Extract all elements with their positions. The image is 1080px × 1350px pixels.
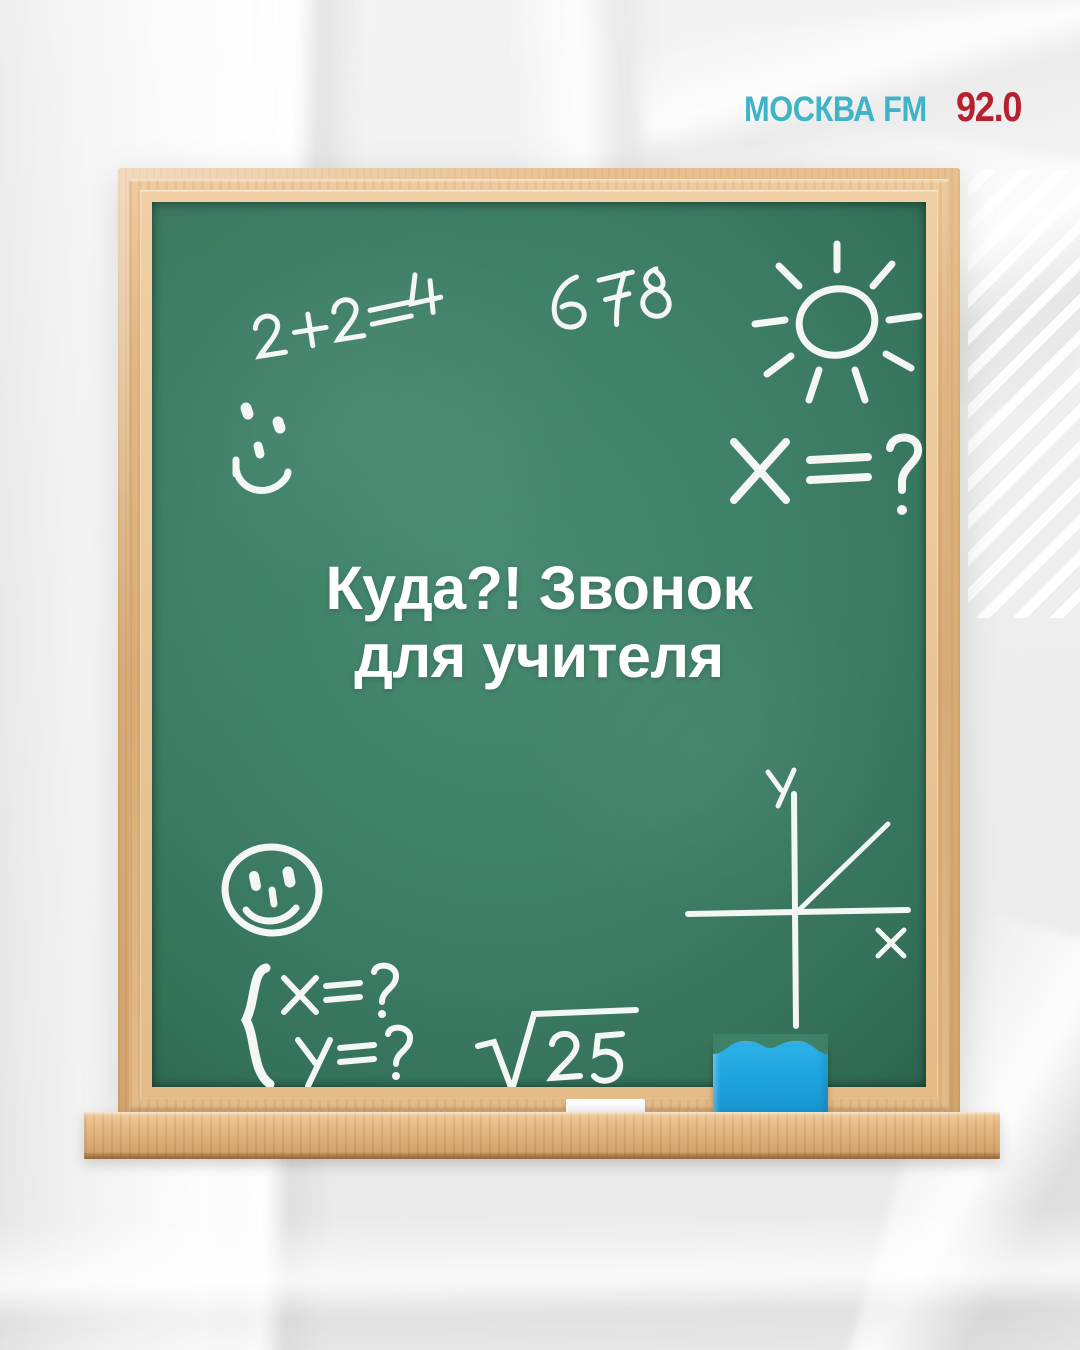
chalk-numbers-678 xyxy=(544,258,694,348)
board-surface: Куда?! Звонок для учителя xyxy=(152,202,926,1087)
brand-frequency: 92.0 xyxy=(956,83,1021,131)
board-title: Куда?! Звонок для учителя xyxy=(152,554,926,691)
chalk-coordinate-axes xyxy=(682,762,926,1052)
sponge-eraser xyxy=(713,1040,828,1118)
brand-logo: МОСКВА FM 92.0 xyxy=(744,83,1032,131)
chalk-equation-sum xyxy=(248,280,448,370)
diagonal-stripes-decoration xyxy=(968,170,1080,618)
chalk-smiley-face-drawing xyxy=(222,392,342,512)
chalk-system-of-equations xyxy=(232,962,442,1087)
poster-canvas: МОСКВА FM 92.0 xyxy=(0,0,1080,1350)
board-title-line-2: для учителя xyxy=(192,622,886,690)
brand-name: МОСКВА FM xyxy=(744,90,927,130)
chalkboard: Куда?! Звонок для учителя xyxy=(118,168,960,1121)
chalk-square-root-25 xyxy=(472,1002,642,1087)
chalk-x-equals-question xyxy=(724,424,926,534)
chalk-tray-shelf xyxy=(84,1112,1000,1159)
board-title-line-1: Куда?! Звонок xyxy=(192,554,886,622)
chalk-round-smiley-drawing xyxy=(212,832,332,952)
chalk-sun-drawing xyxy=(747,232,926,412)
